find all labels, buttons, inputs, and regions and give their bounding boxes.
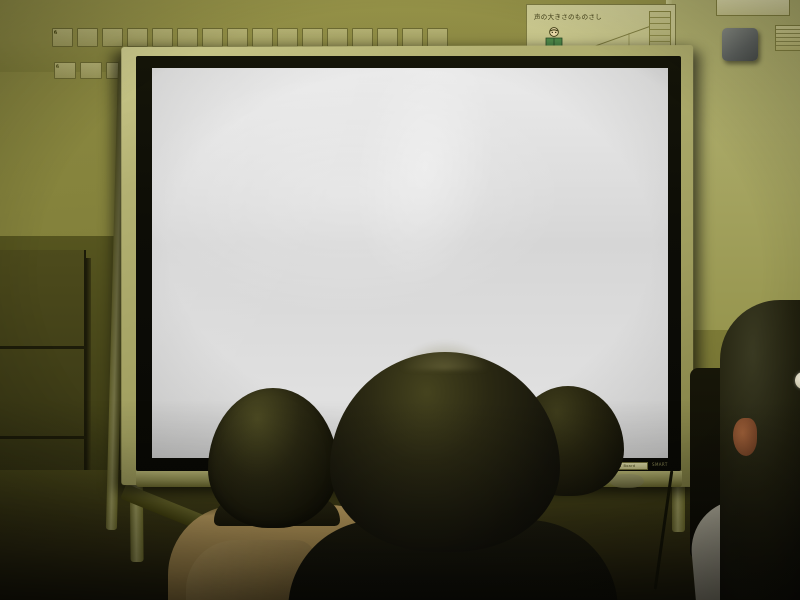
app-titlebar: Microsoft PowerPoint スライド ショー bbox=[152, 68, 668, 79]
whiteboard-brand: SMART bbox=[652, 462, 668, 467]
person-right-hair bbox=[720, 300, 800, 600]
wall-placard bbox=[775, 25, 800, 51]
person-right-ear bbox=[733, 418, 757, 456]
whiteboard-dial bbox=[610, 474, 644, 488]
classroom-photo: 名名名名名名名名名名名名名名名名 名名名名名名名 声の大きさのものさし bbox=[0, 0, 800, 600]
wall-card-row-top: 名名名名名名名名名名名名名名名名 bbox=[52, 28, 448, 47]
wall-card: 名 bbox=[427, 28, 448, 47]
app-title-text: Microsoft PowerPoint bbox=[152, 71, 208, 76]
slide-line-text-b: 骨密度低下 bbox=[333, 141, 466, 171]
wall-card-label: 名 bbox=[54, 30, 446, 34]
slide-line-text-a: 睡眠障害 bbox=[178, 194, 284, 224]
wall-sign-top-right bbox=[716, 0, 790, 16]
slide-line: 体力の低下骨密度低下 bbox=[178, 143, 642, 169]
slide-line-text-a: 体力の低下 bbox=[178, 141, 311, 171]
slide-line: 感情をコントロールできない bbox=[178, 249, 642, 275]
slide-line-text-a: 暴力をふるう bbox=[178, 300, 337, 330]
slide-line: 暴力をふるう家族関係の悪化 bbox=[178, 302, 642, 328]
slide-title-underline bbox=[178, 128, 523, 130]
student-center-hair-wisp bbox=[400, 340, 490, 370]
slide-line-text-a: 感情をコントロールできない bbox=[178, 247, 523, 277]
slide-title: ネット依存になると・・・ bbox=[178, 95, 642, 125]
slide-line-text-b: 家族関係の悪化 bbox=[359, 300, 545, 330]
app-titlebar-right-text: スライド ショー bbox=[625, 71, 668, 77]
wall-speaker-icon bbox=[722, 28, 758, 61]
slide-line-text-a: 遅刻 bbox=[178, 353, 231, 383]
slide-line: 睡眠障害 bbox=[178, 196, 642, 222]
